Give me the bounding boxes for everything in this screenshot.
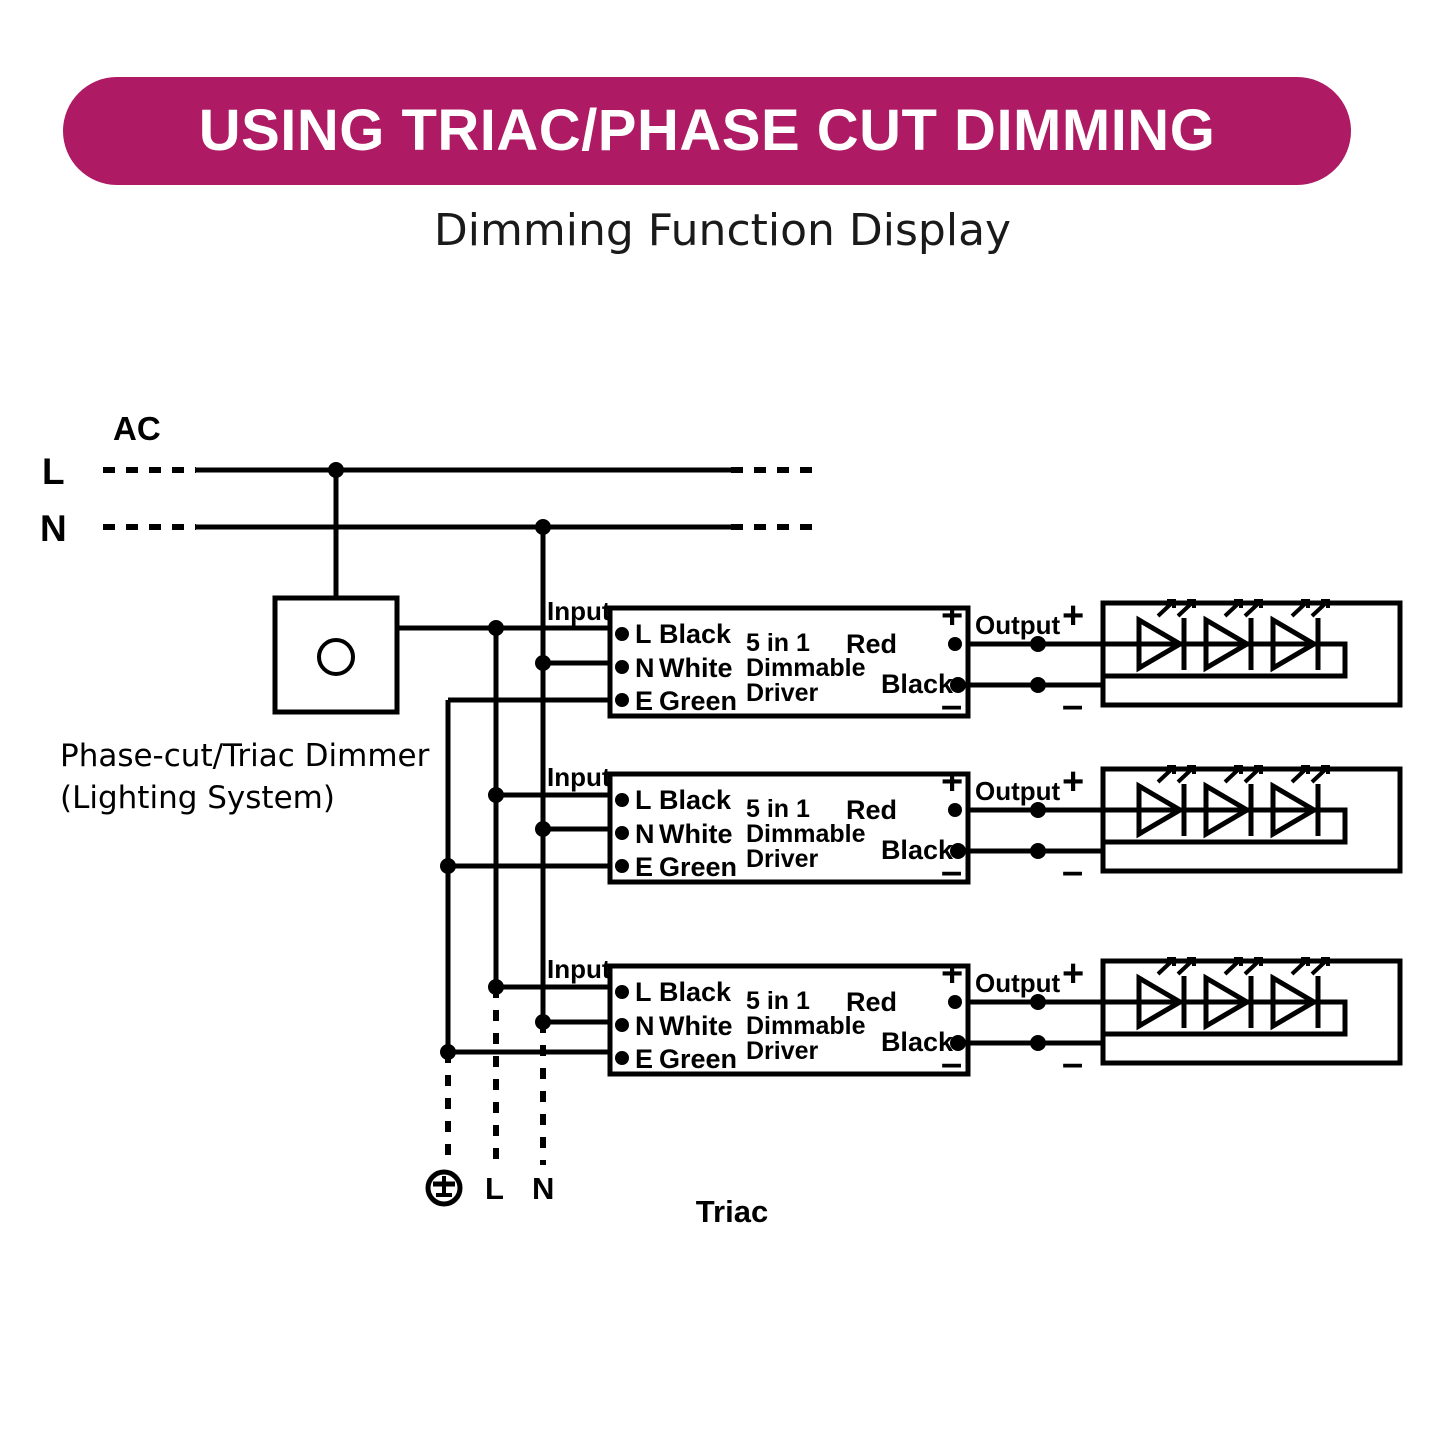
bottom-l-label: L xyxy=(485,1171,504,1206)
terminal-wire-e: Green xyxy=(659,1044,737,1074)
bottom-bus-terminations: L N xyxy=(428,1171,554,1206)
output-terminal-dot xyxy=(948,637,962,651)
terminal-code-n: N xyxy=(635,819,655,849)
terminal-wire-l: Black xyxy=(659,785,732,815)
driver-title-1: 5 in 1 xyxy=(746,987,810,1015)
output-wire-red: Red xyxy=(846,629,897,659)
driver-title-3: Driver xyxy=(746,679,819,707)
junction-dot xyxy=(1030,802,1046,818)
supply-l-label: L xyxy=(42,451,65,492)
driver-title-1: 5 in 1 xyxy=(746,629,810,657)
load-minus-sign: – xyxy=(1062,1043,1083,1085)
wiring-diagram: AC L N Ph xyxy=(0,0,1445,1445)
input-label: Input xyxy=(547,596,611,626)
terminal-wire-l: Black xyxy=(659,977,732,1007)
junction-dot xyxy=(488,787,504,803)
junction-dot xyxy=(535,519,551,535)
junction-dot xyxy=(1030,1035,1046,1051)
output-terminal-dot xyxy=(948,803,962,817)
round-knob-icon[interactable] xyxy=(319,640,353,674)
output-terminal-dot xyxy=(948,995,962,1009)
supply-n-label: N xyxy=(40,508,67,549)
junction-dot xyxy=(440,858,456,874)
terminal-dot xyxy=(615,985,629,999)
terminal-wire-e: Green xyxy=(659,686,737,716)
load-plus-sign: + xyxy=(1062,595,1084,637)
load-minus-sign: – xyxy=(1062,851,1083,893)
output-plus-sign: + xyxy=(941,761,963,803)
terminal-dot xyxy=(615,1018,629,1032)
terminal-wire-n: White xyxy=(659,819,733,849)
junction-dot xyxy=(1030,677,1046,693)
terminal-dot xyxy=(615,627,629,641)
junction-dot xyxy=(1030,843,1046,859)
dimmer-caption-line2: (Lighting System) xyxy=(60,780,335,816)
load-minus-sign: – xyxy=(1062,685,1083,727)
junction-dot xyxy=(535,655,551,671)
terminal-dot xyxy=(615,859,629,873)
terminal-dot xyxy=(615,660,629,674)
output-minus-sign: – xyxy=(941,851,962,893)
earth-ground-icon xyxy=(428,1172,460,1204)
terminal-code-n: N xyxy=(635,1011,655,1041)
load-plus-sign: + xyxy=(1062,761,1084,803)
output-wire-red: Red xyxy=(846,795,897,825)
input-label: Input xyxy=(547,762,611,792)
load-plus-sign: + xyxy=(1062,953,1084,995)
terminal-code-n: N xyxy=(635,653,655,683)
output-label: Output xyxy=(975,776,1061,806)
terminal-code-e: E xyxy=(635,852,653,882)
terminal-code-e: E xyxy=(635,686,653,716)
driver-title-3: Driver xyxy=(746,845,819,873)
terminal-dot xyxy=(615,1051,629,1065)
driver-row-2: Input L Black N White E Green 5 in 1 Dim… xyxy=(440,761,1400,893)
driver-title-3: Driver xyxy=(746,1037,819,1065)
junction-dot xyxy=(440,1044,456,1060)
junction-dot xyxy=(1030,994,1046,1010)
input-label: Input xyxy=(547,954,611,984)
terminal-code-e: E xyxy=(635,1044,653,1074)
diagram-page: USING TRIAC/PHASE CUT DIMMING Dimming Fu… xyxy=(0,0,1445,1445)
output-label: Output xyxy=(975,968,1061,998)
output-wire-red: Red xyxy=(846,987,897,1017)
terminal-code-l: L xyxy=(635,619,652,649)
output-minus-sign: – xyxy=(941,1043,962,1085)
driver-row-1: Input L Black N White E Green 5 in 1 Dim… xyxy=(448,595,1400,727)
terminal-code-l: L xyxy=(635,785,652,815)
terminal-wire-e: Green xyxy=(659,852,737,882)
terminal-wire-n: White xyxy=(659,1011,733,1041)
output-plus-sign: + xyxy=(941,595,963,637)
junction-dot xyxy=(535,821,551,837)
ac-label: AC xyxy=(113,410,161,447)
junction-dot xyxy=(328,462,344,478)
dimmer-caption-line1: Phase-cut/Triac Dimmer xyxy=(60,738,430,774)
junction-dot xyxy=(535,1014,551,1030)
output-plus-sign: + xyxy=(941,953,963,995)
output-minus-sign: – xyxy=(941,685,962,727)
terminal-wire-l: Black xyxy=(659,619,732,649)
footer-label: Triac xyxy=(696,1194,768,1229)
terminal-dot xyxy=(615,693,629,707)
junction-dot xyxy=(488,979,504,995)
terminal-code-l: L xyxy=(635,977,652,1007)
driver-title-1: 5 in 1 xyxy=(746,795,810,823)
terminal-dot xyxy=(615,826,629,840)
output-label: Output xyxy=(975,610,1061,640)
bottom-n-label: N xyxy=(532,1171,554,1206)
terminal-dot xyxy=(615,793,629,807)
driver-row-3: Input L Black N White E Green 5 in 1 Dim… xyxy=(440,953,1400,1085)
terminal-wire-n: White xyxy=(659,653,733,683)
junction-dot xyxy=(1030,636,1046,652)
